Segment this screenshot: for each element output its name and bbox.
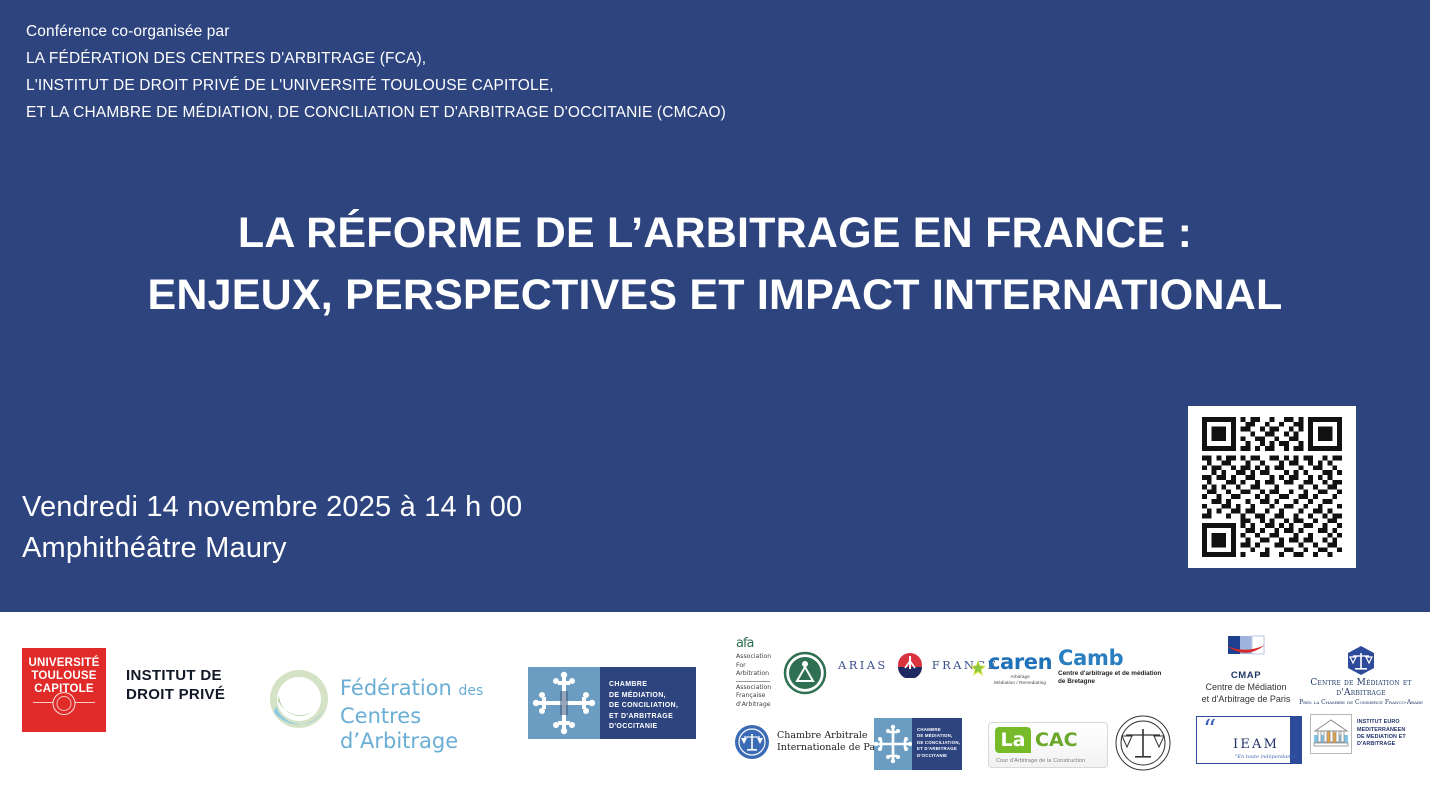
idp-line-2: DROIT PRIVÉ — [126, 685, 225, 704]
cmcao-line-4: ET D'ARBITRAGE — [609, 712, 696, 723]
occitan-cross-icon — [528, 667, 600, 739]
cmcao-small-box: CHAMBRE DE MÉDIATION, DE CONCILIATION, E… — [874, 718, 962, 770]
cmcao-line-1: CHAMBRE — [609, 680, 696, 691]
afa-line-3: Arbitration — [736, 670, 771, 679]
cmcao-small-line-4: ET D'ARBITRAGE — [917, 746, 962, 752]
iemma-line-2: DE MEDIATION ET D'ARBITRAGE — [1357, 734, 1426, 749]
fca-crescent-icon — [266, 666, 332, 732]
quotation-mark-icon: “ — [1203, 720, 1216, 740]
camb-text: Camb Centre d'arbitrage et de médiation … — [1058, 646, 1161, 687]
afa-line-1: Association — [736, 653, 771, 662]
cmcao-line-3: DE CONCILIATION, — [609, 701, 696, 712]
temple-sunset-icon — [1310, 714, 1352, 754]
utc-line-2: TOULOUSE — [31, 670, 96, 683]
cmcao-text-panel: CHAMBRE DE MÉDIATION, DE CONCILIATION, E… — [600, 667, 696, 739]
arias-circle-icon — [897, 652, 923, 678]
organizer-line-3: ET LA CHAMBRE DE MÉDIATION, DE CONCILIAT… — [26, 99, 726, 126]
afa-line-5: Française — [736, 692, 771, 701]
lacac-box: La CAC Cour d'Arbitrage de la Constructi… — [988, 722, 1108, 768]
cmcao-line-2: DE MÉDIATION, — [609, 691, 696, 702]
star-icon — [969, 659, 987, 677]
utc-line-1: UNIVERSITÉ — [28, 657, 99, 670]
camb-sub-2: de Bretagne — [1058, 678, 1161, 686]
logo-afa: afa Association For Arbitration Associat… — [736, 636, 827, 710]
logo-centre-franco-arabe: Centre de Médiation et d'Arbitrage Près … — [1286, 644, 1430, 706]
scales-ring-seal-icon — [1114, 714, 1172, 772]
caren-sub-2: Médiation / Remediating — [988, 680, 1052, 686]
temple-sunset-glyph — [1311, 715, 1351, 751]
cmcao-small-cross-panel — [874, 718, 912, 770]
sponsor-footer: UNIVERSITÉ TOULOUSE CAPITOLE INSTITUT DE… — [0, 612, 1430, 795]
logo-caren: caren Arbitrage Médiation / Remediating — [969, 650, 1052, 687]
logo-cmcao: CHAMBRE DE MÉDIATION, DE CONCILIATION, E… — [528, 667, 696, 739]
cmcao-line-5: D'OCCITANIE — [609, 722, 696, 733]
afa-monogram: afa — [736, 636, 771, 651]
logo-arbitration-seal — [1114, 714, 1172, 772]
caip-text: Chambre Arbitrale Internationale de Pari… — [777, 730, 887, 755]
fca-line-2: Centres d’Arbitrage — [340, 704, 496, 754]
camb-word: Camb — [1058, 646, 1161, 670]
title-line-1: LA RÉFORME DE L’ARBITRAGE EN FRANCE : — [0, 202, 1430, 264]
ccfa-line-2: Près la Chambre de Commerce Franco-Arabe — [1286, 699, 1430, 706]
iemma-text: INSTITUT EURO MEDITERRANEEN DE MEDIATION… — [1357, 719, 1426, 749]
afa-line-6: d'Arbitrage — [736, 701, 771, 710]
ieam-motto: "En toute indépendance" — [1235, 754, 1298, 760]
cmcao-small-line-5: D'OCCITANIE — [917, 753, 962, 759]
organizers-lead: Conférence co-organisée par — [26, 18, 726, 45]
hero-banner: Conférence co-organisée par LA FÉDÉRATIO… — [0, 0, 1430, 612]
ccfa-line-1: Centre de Médiation et d'Arbitrage — [1286, 678, 1430, 698]
organizers-block: Conférence co-organisée par LA FÉDÉRATIO… — [26, 18, 726, 126]
fca-wordmark: Fédération des Centres d’Arbitrage — [340, 676, 496, 754]
cmap-squares-swoosh-icon — [1218, 634, 1274, 668]
afa-circle-emblem-icon — [783, 651, 827, 695]
partner-logo-grid: afa Association For Arbitration Associat… — [726, 626, 1426, 792]
title-line-2: ENJEUX, PERSPECTIVES ET IMPACT INTERNATI… — [0, 264, 1430, 326]
lacac-cac: CAC — [1035, 727, 1078, 753]
cmcao-cross-panel — [528, 667, 600, 739]
camb-sub-1: Centre d'arbitrage et de médiation — [1058, 670, 1161, 678]
logo-chambre-arbitrale-internationale-paris: Chambre Arbitrale Internationale de Pari… — [734, 724, 887, 760]
logo-la-cac: La CAC Cour d'Arbitrage de la Constructi… — [988, 722, 1108, 768]
logo-camb: Camb Centre d'arbitrage et de médiation … — [1058, 646, 1161, 687]
caren-text: caren Arbitrage Médiation / Remediating — [988, 650, 1052, 687]
event-details: Vendredi 14 novembre 2025 à 14 h 00 Amph… — [22, 487, 522, 569]
logo-universite-toulouse-capitole: UNIVERSITÉ TOULOUSE CAPITOLE — [22, 648, 106, 732]
idp-line-1: INSTITUT DE — [126, 666, 225, 685]
institut-droit-prive-label: INSTITUT DE DROIT PRIVÉ — [126, 666, 225, 704]
afa-divider — [736, 681, 770, 682]
logo-federation-centres-arbitrage: Fédération des Centres d’Arbitrage — [266, 662, 496, 738]
scales-hexagon-icon — [1344, 644, 1378, 678]
iemma-line-1: INSTITUT EURO MEDITERRANEEN — [1357, 719, 1426, 734]
logo-institut-euro-mediterraneen: INSTITUT EURO MEDITERRANEEN DE MEDIATION… — [1310, 714, 1426, 754]
qr-code[interactable] — [1188, 406, 1356, 568]
ieam-box: “ IEAM "En toute indépendance" — [1196, 716, 1302, 764]
occitan-cross-icon — [874, 718, 912, 770]
caip-line-1: Chambre Arbitrale — [777, 730, 887, 743]
event-venue: Amphithéâtre Maury — [22, 528, 522, 569]
afa-line-2: For — [736, 662, 771, 671]
ieam-word: IEAM — [1233, 737, 1279, 752]
organizer-line-2: L'INSTITUT DE DROIT PRIVÉ DE L'UNIVERSIT… — [26, 72, 726, 99]
lacac-la: La — [995, 727, 1031, 753]
caren-word: caren — [988, 650, 1052, 674]
lacac-subtitle: Cour d'Arbitrage de la Construction — [996, 758, 1085, 764]
cmcao-small-text-panel: CHAMBRE DE MÉDIATION, DE CONCILIATION, E… — [912, 718, 962, 770]
scales-circle-icon — [734, 724, 770, 760]
afa-text-block: afa Association For Arbitration Associat… — [736, 636, 771, 710]
logo-ieam: “ IEAM "En toute indépendance" — [1196, 716, 1302, 764]
university-seal-icon — [53, 692, 76, 715]
caip-line-2: Internationale de Paris — [777, 742, 887, 755]
page-title: LA RÉFORME DE L’ARBITRAGE EN FRANCE : EN… — [0, 202, 1430, 326]
conference-poster: Conférence co-organisée par LA FÉDÉRATIO… — [0, 0, 1430, 795]
arias-word: ARIAS — [838, 658, 888, 672]
organizer-line-1: LA FÉDÉRATION DES CENTRES D'ARBITRAGE (F… — [26, 45, 726, 72]
afa-line-4: Association — [736, 684, 771, 693]
fca-line-1: Fédération des — [340, 676, 496, 704]
logo-cmcao-small: CHAMBRE DE MÉDIATION, DE CONCILIATION, E… — [874, 718, 962, 770]
qr-code-icon — [1202, 417, 1342, 557]
event-date: Vendredi 14 novembre 2025 à 14 h 00 — [22, 487, 522, 528]
utc-divider — [33, 702, 95, 703]
